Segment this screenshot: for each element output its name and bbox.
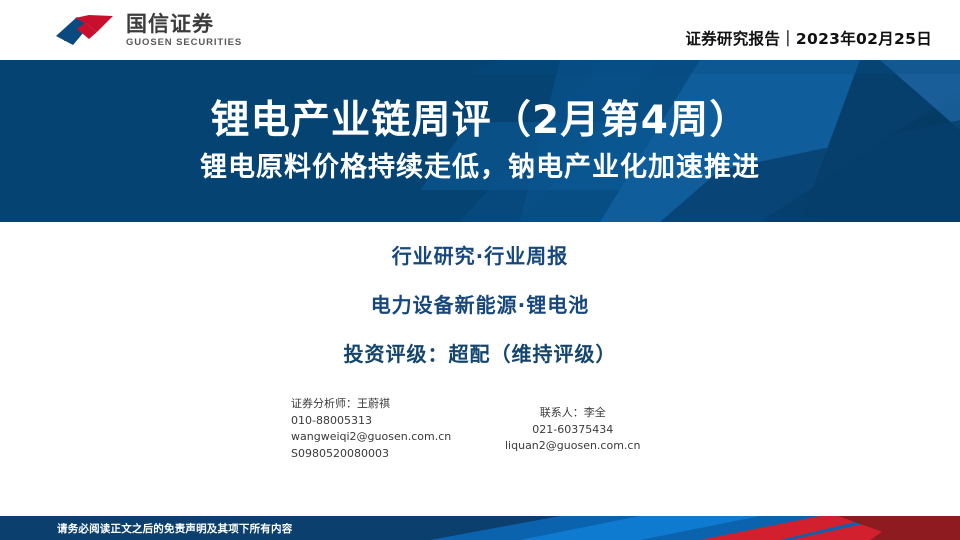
brand-logo-text: 国信证券 GUOSEN SECURITIES (126, 13, 242, 48)
report-type-and-date: 证券研究报告｜2023年02月25日 (685, 27, 932, 49)
meta-line-investment-rating: 投资评级：超配（维持评级） (344, 338, 617, 367)
title-banner: 锂电产业链周评（2月第4周） 锂电原料价格持续走低，钠电产业化加速推进 (0, 60, 960, 222)
brand-logo[interactable]: 国信证券 GUOSEN SECURITIES (55, 13, 242, 48)
meta-line-industry-research: 行业研究·行业周报 (392, 240, 569, 269)
page-header: 国信证券 GUOSEN SECURITIES 证券研究报告｜2023年02月25… (0, 0, 960, 60)
page-footer: 请务必阅读正文之后的免责声明及其项下所有内容 (0, 516, 960, 540)
brand-name-en: GUOSEN SECURITIES (126, 37, 242, 48)
assistant-name: 联系人：李全 (505, 405, 640, 422)
report-meta-group: 行业研究·行业周报 电力设备新能源·锂电池 投资评级：超配（维持评级） (0, 240, 960, 367)
brand-name-cn: 国信证券 (126, 13, 242, 35)
contact-info-group: 证券分析师：王蔚祺 010-88005313 wangweiqi2@guosen… (0, 396, 960, 476)
meta-line-sector: 电力设备新能源·锂电池 (371, 289, 590, 318)
analyst-name: 证券分析师：王蔚祺 (291, 396, 451, 413)
assistant-email[interactable]: liquan2@guosen.com.cn (505, 438, 640, 455)
slide-cover-page: 国信证券 GUOSEN SECURITIES 证券研究报告｜2023年02月25… (0, 0, 960, 540)
assistant-phone: 021-60375434 (505, 422, 640, 439)
analyst-contact-block: 证券分析师：王蔚祺 010-88005313 wangweiqi2@guosen… (291, 396, 451, 462)
analyst-email[interactable]: wangweiqi2@guosen.com.cn (291, 429, 451, 446)
banner-title-group: 锂电产业链周评（2月第4周） 锂电原料价格持续走低，钠电产业化加速推进 (0, 60, 960, 222)
report-title: 锂电产业链周评（2月第4周） (210, 100, 749, 143)
guosen-swoosh-logo-icon (55, 14, 117, 47)
analyst-license-number: S0980520080003 (291, 446, 451, 463)
report-subtitle: 锂电原料价格持续走低，钠电产业化加速推进 (200, 153, 760, 183)
analyst-phone: 010-88005313 (291, 413, 451, 430)
footer-disclaimer-text: 请务必阅读正文之后的免责声明及其项下所有内容 (57, 521, 292, 536)
assistant-contact-block: 联系人：李全 021-60375434 liquan2@guosen.com.c… (505, 405, 640, 455)
